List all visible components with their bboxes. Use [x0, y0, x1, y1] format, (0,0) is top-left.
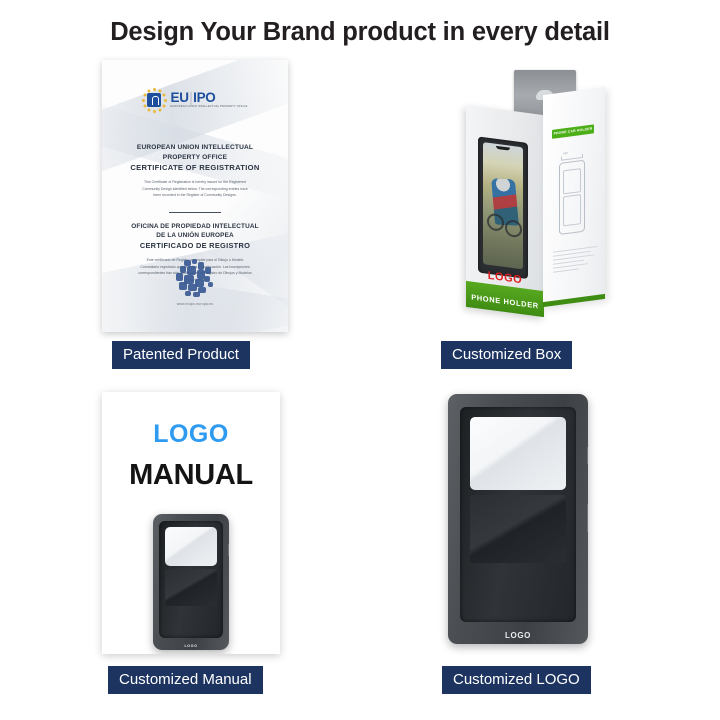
- euipo-emblem-icon: [142, 88, 166, 112]
- certificate-heading-es-line2: DE LA UNIÓN EUROPEA: [116, 231, 274, 240]
- bicycle-wheel-icon: [505, 219, 522, 238]
- certificate-body-en: This Certificate of Registration is here…: [138, 179, 252, 198]
- box-display-window: [478, 136, 528, 279]
- manual-logo-text: LOGO: [102, 420, 280, 449]
- euipo-certificate-image: EU|IPO EUROPEAN UNION INTELLECTUAL PROPE…: [102, 60, 288, 332]
- badge-patented-product: Patented Product: [112, 341, 250, 369]
- box-side-green-edge: [543, 294, 605, 307]
- euipo-wordmark-ipo: IPO: [193, 90, 215, 105]
- box-front-panel: LOGO PHONE HOLDER: [466, 105, 544, 317]
- cyclist-product-photo: [483, 142, 523, 269]
- manual-title-text: MANUAL: [102, 459, 280, 492]
- manual-device-illustration: LOGO: [153, 514, 229, 650]
- certificate-heading-en: EUROPEAN UNION INTELLECTUAL PROPERTY OFF…: [116, 143, 274, 173]
- customized-logo-cell: LOGO: [430, 388, 630, 668]
- manual-device-logo-text: LOGO: [153, 644, 229, 648]
- badge-customized-logo: Customized LOGO: [442, 666, 591, 694]
- certificate-heading-es: OFICINA DE PROPIEDAD INTELECTUAL DE LA U…: [116, 222, 274, 251]
- certificate-heading-es-line1: OFICINA DE PROPIEDAD INTELECTUAL: [116, 222, 274, 231]
- europe-map-icon: [168, 258, 222, 298]
- customized-box-cell: LOGO PHONE HOLDER PHONE CAR HOLDER mm: [430, 58, 630, 338]
- euipo-logo-subtitle: EUROPEAN UNION INTELLECTUAL PROPERTY OFF…: [170, 105, 247, 109]
- phone-notch-icon: [496, 146, 510, 151]
- certificate-url: www.euipo.europa.eu: [102, 302, 288, 306]
- manual-cover-image: LOGO MANUAL LOGO: [102, 392, 280, 654]
- patented-product-cell: EU|IPO EUROPEAN UNION INTELLECTUAL PROPE…: [96, 58, 296, 338]
- box-side-panel: PHONE CAR HOLDER mm: [543, 87, 605, 307]
- customized-manual-cell: LOGO MANUAL LOGO: [96, 388, 296, 668]
- product-customization-infographic: Design Your Brand product in every detai…: [0, 0, 720, 720]
- box-technical-drawing: mm: [555, 150, 593, 241]
- retail-box-image: LOGO PHONE HOLDER PHONE CAR HOLDER mm: [430, 58, 630, 338]
- box-dimension-label: mm: [563, 151, 568, 156]
- euipo-logo: EU|IPO EUROPEAN UNION INTELLECTUAL PROPE…: [116, 87, 274, 113]
- product-device-logo-text: LOGO: [448, 631, 588, 640]
- certificate-heading-en-line2: PROPERTY OFFICE: [116, 153, 274, 163]
- euipo-wordmark-eu: EU: [170, 90, 188, 105]
- page-title: Design Your Brand product in every detai…: [0, 18, 720, 47]
- product-device-image: LOGO: [448, 394, 588, 644]
- euipo-wordmark: EU|IPO: [170, 91, 247, 105]
- certificate-heading-es-line3: CERTIFICADO DE REGISTRO: [116, 241, 274, 252]
- box-spec-text-lines: [553, 246, 597, 276]
- badge-customized-manual: Customized Manual: [108, 666, 263, 694]
- certificate-footer: www.euipo.europa.eu: [102, 258, 288, 306]
- certificate-heading-en-line1: EUROPEAN UNION INTELLECTUAL: [116, 143, 274, 153]
- certificate-heading-en-line3: CERTIFICATE OF REGISTRATION: [116, 162, 274, 173]
- certificate-divider: [169, 212, 221, 214]
- box-side-green-tag: PHONE CAR HOLDER: [552, 124, 594, 139]
- badge-customized-box: Customized Box: [441, 341, 572, 369]
